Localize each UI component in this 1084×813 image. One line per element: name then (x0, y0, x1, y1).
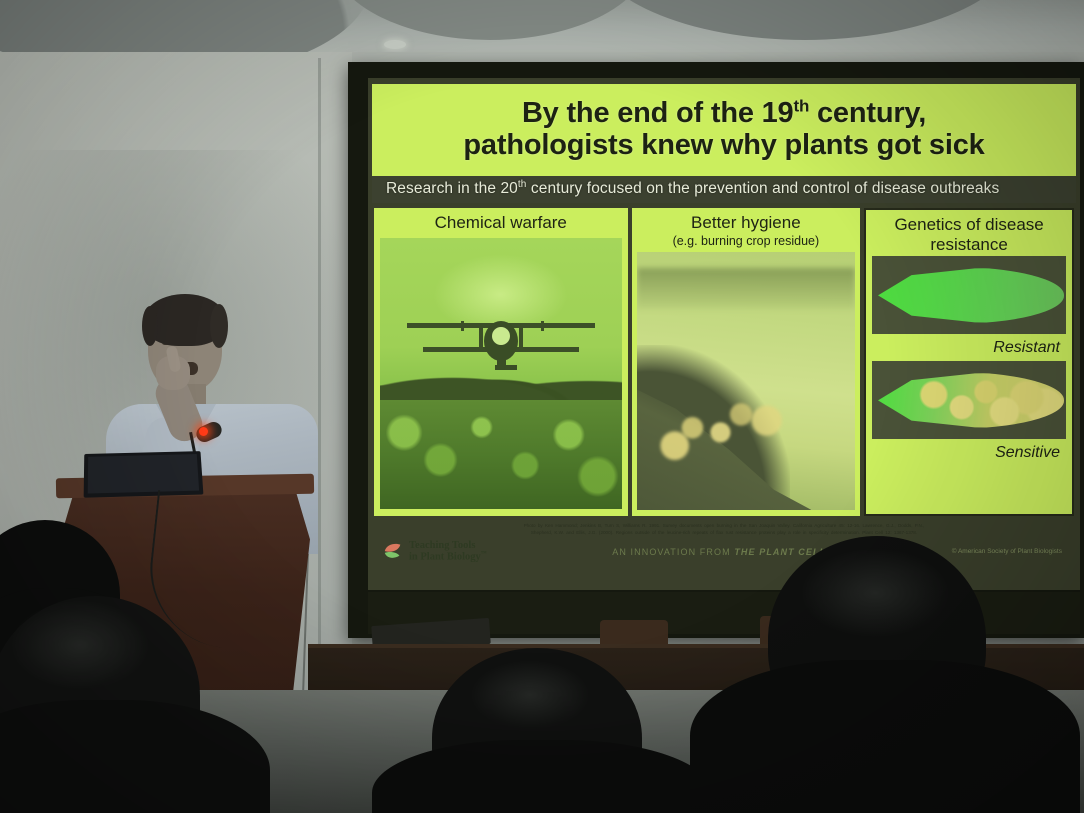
ceiling-light-recess (590, 0, 1020, 40)
projection-screen: By the end of the 19th century, patholog… (348, 62, 1084, 638)
slide-title-line2: pathologists knew why plants got sick (463, 129, 984, 161)
logo-text: Teaching Tools in Plant Biology™ (409, 540, 487, 563)
smoke-band (637, 268, 856, 309)
leaf-comparison: Resistant Sensitive (866, 256, 1072, 514)
slide-title-line1-b: century, (809, 97, 926, 129)
presenter-hair-side (142, 306, 158, 346)
microphone-led-indicator (199, 427, 208, 436)
slide-title-line1-a: By the end of the 19 (522, 97, 794, 129)
slide-subtitle-bar: Research in the 20th century focused on … (372, 176, 1076, 203)
panel-title: Genetics of disease resistance (866, 210, 1072, 256)
sensitive-leaf-image (872, 361, 1066, 439)
ceiling (0, 0, 1084, 60)
panel-title: Better hygiene (e.g. burning crop residu… (632, 208, 861, 250)
logo-line-1: Teaching Tools (409, 540, 475, 551)
leaf-shape-sensitive (878, 372, 1064, 428)
panel-title-main: Genetics of disease (894, 215, 1043, 234)
footer-innovation-prefix: AN INNOVATION FROM (612, 547, 734, 557)
logo-line-2: in Plant Biology (409, 552, 481, 563)
slide-title-superscript: th (793, 96, 809, 115)
slide-citation: Photo by Ken Hammond; Jenkins B, Turn S,… (372, 516, 1076, 536)
presentation-slide: By the end of the 19th century, patholog… (368, 78, 1080, 590)
logo-trademark: ™ (481, 551, 487, 557)
crop-duster-photo (380, 238, 622, 509)
ceiling-light-recess (330, 0, 650, 40)
leaf-logo-icon (382, 541, 404, 563)
audience-shoulders (690, 660, 1080, 813)
slide-panels: Chemical warfare (372, 208, 1076, 516)
laptop-screen (88, 454, 199, 493)
panel-subtitle: (e.g. burning crop residue) (636, 234, 857, 249)
laptop[interactable] (84, 451, 204, 498)
lecture-hall-scene: By the end of the 19th century, patholog… (0, 0, 1084, 813)
panel-better-hygiene: Better hygiene (e.g. burning crop residu… (632, 208, 861, 516)
crop-field (380, 400, 622, 509)
hair-highlight (10, 600, 150, 690)
citation-line-1: Photo by Ken Hammond; Jenkins B, Turn S,… (402, 522, 1046, 529)
sensitive-label: Sensitive (872, 442, 1066, 463)
panel-genetics-resistance: Genetics of disease resistance Resistant (864, 208, 1074, 516)
panel-chemical-warfare: Chemical warfare (374, 208, 628, 516)
presenter-hair-side (210, 304, 228, 348)
slide-subtitle-b: century focused on the prevention and co… (526, 180, 999, 197)
hair-highlight (470, 660, 590, 730)
hair-highlight (800, 548, 950, 638)
resistant-leaf-image (872, 256, 1066, 334)
slide-footer: Teaching Tools in Plant Biology™ AN INNO… (372, 536, 1076, 565)
panel-title-main: Better hygiene (691, 213, 801, 232)
leaf-shape-resistant (878, 267, 1064, 323)
resistant-label: Resistant (872, 337, 1066, 358)
footer-copyright: © American Society of Plant Biologists (952, 548, 1062, 555)
slide-subtitle-a: Research in the 20 (386, 180, 518, 197)
slide-title: By the end of the 19th century, patholog… (372, 84, 1076, 176)
panel-title: Chemical warfare (374, 208, 628, 235)
burning-residue-photo (637, 252, 856, 510)
teaching-tools-logo: Teaching Tools in Plant Biology™ (382, 540, 487, 563)
screen-surface: By the end of the 19th century, patholog… (368, 78, 1080, 590)
citation-line-2: Shepherd, K.W. and Ellis, J.G. (2000). R… (402, 529, 1046, 536)
ceiling-spot-light (384, 40, 406, 49)
panel-title-second: resistance (930, 235, 1007, 254)
